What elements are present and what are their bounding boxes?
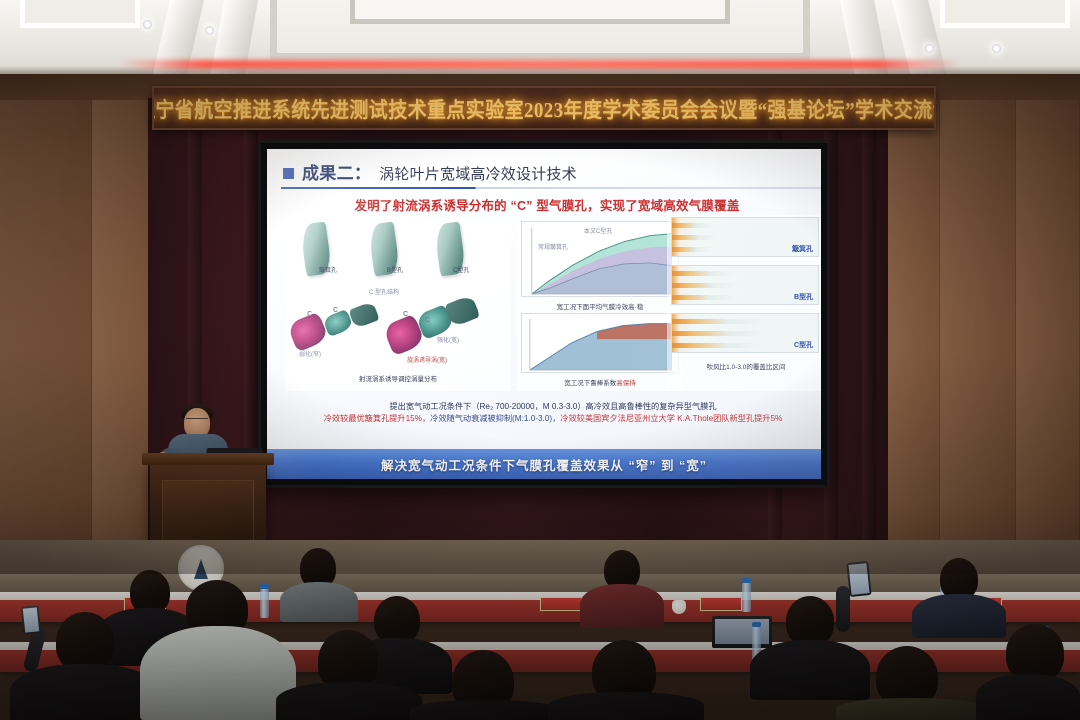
curtain-fold bbox=[862, 98, 876, 568]
vortex-label-strong: 强化(宽) bbox=[437, 335, 459, 344]
contour-strip-1: 簸箕孔 bbox=[671, 217, 819, 257]
jet-trace bbox=[672, 295, 734, 300]
audience-shoulders bbox=[10, 664, 160, 720]
c-annotation-1: C bbox=[307, 311, 312, 318]
water-bottle bbox=[260, 588, 269, 618]
audience-head bbox=[374, 596, 420, 644]
vortex-label-induced: 旋涡诱导涡(宽) bbox=[407, 355, 447, 364]
bottle-cap bbox=[752, 622, 761, 627]
smartphone-screen[interactable] bbox=[23, 607, 39, 632]
podium-top bbox=[142, 453, 274, 465]
chart2-caption: 宽工况下鲁棒系数高保持 bbox=[517, 377, 683, 387]
name-placard bbox=[700, 597, 742, 611]
jet-trace bbox=[672, 343, 762, 348]
downlight-icon bbox=[925, 44, 934, 53]
audience-shoulders bbox=[580, 584, 664, 628]
slide-panel-vortex: 簸箕孔 B型孔 C型孔 C 型孔结构 C C 弱化(窄) C C 强化(宽) 旋… bbox=[285, 221, 511, 391]
audience-shoulders bbox=[912, 594, 1006, 638]
audience-shoulders-hoodie bbox=[140, 626, 296, 720]
slide-panel-charts: 本文C型孔 常规簸箕孔 宽工况下面平均气膜冷效高·稳 宽工况下鲁棒系数高保持 bbox=[517, 221, 683, 391]
jet-trace bbox=[672, 271, 736, 276]
slide-title-sub: 涡轮叶片宽域高冷效设计技术 bbox=[379, 163, 577, 184]
right-panel-caption: 吹风比1.0-3.0的覆盖比区间 bbox=[667, 361, 821, 371]
audience-head bbox=[56, 612, 114, 672]
ceiling-cutout-left bbox=[20, 0, 140, 28]
glasses-icon bbox=[186, 418, 208, 423]
jet-trace bbox=[672, 319, 764, 324]
slide-notes-gain-2: 冷效随气动衰减被抑制(M:1.0-3.0)， bbox=[430, 414, 560, 423]
slide-title-main: 成果二： bbox=[302, 159, 371, 184]
jet-trace bbox=[672, 247, 712, 252]
blade-label-1: 簸箕孔 bbox=[319, 265, 337, 274]
slide-panel-contours: 簸箕孔 B型孔 C型孔 吹风比1.0-3.0的覆盖比区间 bbox=[667, 215, 821, 391]
blade-label-2: B型孔 bbox=[387, 265, 403, 274]
water-bottle bbox=[742, 582, 751, 612]
smartphone[interactable] bbox=[21, 605, 42, 635]
slide-bottom-banner-text: 解决宽气动工况条件下气膜孔覆盖效果从 “窄” 到 “宽” bbox=[381, 455, 707, 474]
contour-strip-2: B型孔 bbox=[671, 265, 819, 305]
teacup bbox=[672, 600, 686, 614]
contour-strip-label-2: B型孔 bbox=[794, 292, 813, 302]
slide-notes-line-2: 冷效较最优簸箕孔提升15%，冷效随气动衰减被抑制(M:1.0-3.0)，冷效较美… bbox=[283, 413, 821, 425]
projection-screen: 成果二： 涡轮叶片宽域高冷效设计技术 发明了射流涡系诱导分布的 “C” 型气膜孔… bbox=[258, 140, 830, 488]
chart-area-robustness bbox=[521, 313, 679, 373]
chart1-annotation-baseline: 常规簸箕孔 bbox=[538, 242, 568, 251]
presentation-photo-scene: 辽宁省航空推进系统先进测试技术重点实验室2023年度学术委员会会议暨“强基论坛”… bbox=[0, 0, 1080, 720]
square-bullet-icon bbox=[283, 168, 294, 179]
chart2-caption-text: 宽工况下鲁棒系数 bbox=[564, 380, 616, 387]
audience-raised-arm bbox=[836, 586, 850, 632]
audience-shoulders bbox=[410, 700, 560, 720]
slide-notes-line-1: 提出宽气动工况条件下（Re₂ 700-20000，M 0.3-3.0）高冷效且高… bbox=[283, 401, 821, 413]
slide-lead-text: 发明了射流涡系诱导分布的 “C” 型气膜孔，实现了宽域高效气膜覆盖 bbox=[297, 195, 797, 214]
chart1-annotation-c-hole: 本文C型孔 bbox=[584, 226, 612, 235]
jet-trace bbox=[672, 283, 738, 288]
chart2-svg bbox=[522, 314, 678, 372]
slide-notes: 提出宽气动工况条件下（Re₂ 700-20000，M 0.3-3.0）高冷效且高… bbox=[283, 401, 821, 425]
wall-panel-right-2 bbox=[940, 74, 1016, 574]
jet-trace bbox=[672, 331, 768, 336]
c-annotation-2: C bbox=[333, 307, 338, 314]
contour-strip-label-1: 簸箕孔 bbox=[792, 244, 813, 254]
conference-banner-text: 辽宁省航空推进系统先进测试技术重点实验室2023年度学术委员会会议暨“强基论坛”… bbox=[152, 93, 936, 123]
emblem-mark-icon bbox=[194, 559, 208, 579]
presentation-slide: 成果二： 涡轮叶片宽域高冷效设计技术 发明了射流涡系诱导分布的 “C” 型气膜孔… bbox=[267, 149, 821, 479]
smartphone[interactable] bbox=[846, 561, 871, 597]
audience-laptop bbox=[712, 616, 772, 648]
slide-notes-gain-1: 冷效较最优簸箕孔提升15%， bbox=[324, 414, 430, 423]
chart2-caption-highlight: 高保持 bbox=[616, 380, 636, 387]
bottle-cap bbox=[260, 584, 269, 589]
downlight-icon bbox=[143, 20, 152, 29]
conference-banner: 辽宁省航空推进系统先进测试技术重点实验室2023年度学术委员会会议暨“强基论坛”… bbox=[152, 86, 936, 130]
downlight-icon bbox=[992, 44, 1001, 53]
wall-panel-left-1 bbox=[0, 74, 92, 574]
chart-area-cooling-effectiveness: 本文C型孔 常规簸箕孔 bbox=[521, 221, 679, 297]
wall-panel-right-3 bbox=[1016, 74, 1080, 574]
ceiling-cutout-right bbox=[940, 0, 1070, 28]
c-annotation-3: C bbox=[403, 311, 408, 318]
chart1-caption: 宽工况下面平均气膜冷效高·稳 bbox=[517, 301, 683, 311]
audience-shoulders bbox=[836, 698, 986, 720]
bottle-cap bbox=[742, 578, 751, 583]
audience-shoulders bbox=[976, 674, 1080, 720]
jet-trace bbox=[672, 235, 716, 240]
ceiling-recess-inner bbox=[350, 0, 730, 24]
contour-strip-3: C型孔 bbox=[671, 313, 819, 353]
slide-bottom-banner: 解决宽气动工况条件下气膜孔覆盖效果从 “窄” 到 “宽” bbox=[267, 449, 821, 479]
audience-shoulders bbox=[276, 682, 422, 720]
c-annotation-4: C bbox=[425, 317, 430, 324]
slide-notes-gain-3: 冷效较美国宾夕法尼亚州立大学 K.A.Thole团队新型孔提升5% bbox=[560, 414, 782, 423]
blade-label-3: C型孔 bbox=[453, 265, 469, 274]
contour-strip-label-3: C型孔 bbox=[794, 340, 813, 350]
slide-heading: 成果二： 涡轮叶片宽域高冷效设计技术 bbox=[283, 159, 577, 184]
vortex-label-weak: 弱化(窄) bbox=[299, 349, 321, 358]
jet-trace bbox=[672, 223, 714, 228]
c-hole-structure-label: C 型孔结构 bbox=[369, 287, 399, 296]
downlight-icon bbox=[205, 26, 214, 35]
vortex-dark-left bbox=[348, 301, 380, 329]
title-underline bbox=[281, 187, 821, 189]
smartphone-screen[interactable] bbox=[848, 563, 869, 595]
audience-shoulders bbox=[280, 582, 358, 622]
audience-shoulders bbox=[750, 640, 870, 700]
audience-head bbox=[786, 596, 834, 646]
audience-shoulders bbox=[548, 692, 704, 720]
name-placard bbox=[540, 597, 582, 611]
left-panel-caption: 射流涡系诱导调控涡量分布 bbox=[285, 373, 511, 383]
